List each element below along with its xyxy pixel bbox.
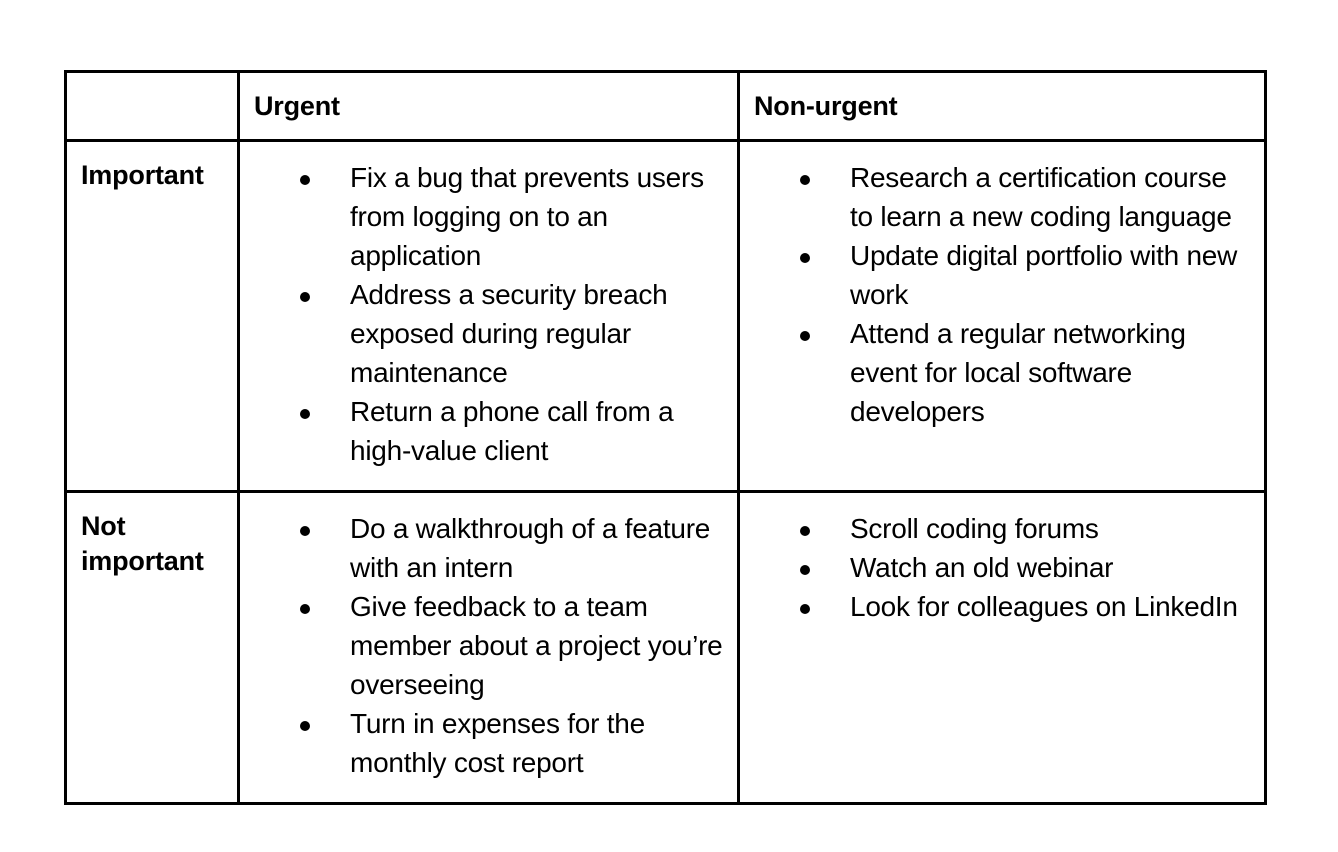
corner-cell bbox=[66, 72, 239, 141]
bullet-dot-icon bbox=[800, 331, 810, 341]
list-item-text: Give feedback to a team member about a p… bbox=[350, 587, 727, 704]
bullet-dot-icon bbox=[300, 292, 310, 302]
list-item: Watch an old webinar bbox=[740, 548, 1254, 587]
list-item-text: Do a walkthrough of a feature with an in… bbox=[350, 509, 727, 587]
task-list-important-urgent: Fix a bug that prevents users from loggi… bbox=[240, 142, 737, 490]
table-row: Not important Do a walkthrough of a feat… bbox=[66, 492, 1266, 804]
list-item: Return a phone call from a high-value cl… bbox=[240, 392, 727, 470]
list-item-text: Turn in expenses for the monthly cost re… bbox=[350, 704, 727, 782]
list-item-text: Update digital portfolio with new work bbox=[850, 236, 1254, 314]
list-item-text: Fix a bug that prevents users from loggi… bbox=[350, 158, 727, 275]
column-header-non-urgent-label: Non-urgent bbox=[740, 73, 1264, 122]
bullet-dot-icon bbox=[800, 175, 810, 185]
table-row: Important Fix a bug that prevents users … bbox=[66, 141, 1266, 492]
list-item: Research a certification course to learn… bbox=[740, 158, 1254, 236]
column-header-urgent-label: Urgent bbox=[240, 73, 737, 122]
corner-label bbox=[67, 73, 237, 90]
page-canvas: Urgent Non-urgent Important Fix a bug th bbox=[0, 0, 1338, 852]
list-item-text: Look for colleagues on LinkedIn bbox=[850, 587, 1254, 626]
row-header-not-important-label: Not important bbox=[67, 493, 237, 578]
cell-not-important-urgent: Do a walkthrough of a feature with an in… bbox=[239, 492, 739, 804]
task-list-not-important-non-urgent: Scroll coding forums Watch an old webina… bbox=[740, 493, 1264, 646]
list-item: Attend a regular networking event for lo… bbox=[740, 314, 1254, 431]
list-item: Turn in expenses for the monthly cost re… bbox=[240, 704, 727, 782]
row-header-important: Important bbox=[66, 141, 239, 492]
bullet-dot-icon bbox=[800, 604, 810, 614]
bullet-dot-icon bbox=[800, 526, 810, 536]
list-item: Do a walkthrough of a feature with an in… bbox=[240, 509, 727, 587]
list-item-text: Attend a regular networking event for lo… bbox=[850, 314, 1254, 431]
bullet-dot-icon bbox=[300, 721, 310, 731]
list-item: Update digital portfolio with new work bbox=[740, 236, 1254, 314]
row-header-important-label: Important bbox=[67, 142, 237, 193]
bullet-dot-icon bbox=[800, 565, 810, 575]
bullet-dot-icon bbox=[800, 253, 810, 263]
column-header-non-urgent: Non-urgent bbox=[739, 72, 1266, 141]
list-item: Scroll coding forums bbox=[740, 509, 1254, 548]
cell-important-non-urgent: Research a certification course to learn… bbox=[739, 141, 1266, 492]
row-header-not-important: Not important bbox=[66, 492, 239, 804]
list-item: Address a security breach exposed during… bbox=[240, 275, 727, 392]
eisenhower-matrix-table: Urgent Non-urgent Important Fix a bug th bbox=[64, 70, 1267, 805]
list-item-text: Watch an old webinar bbox=[850, 548, 1254, 587]
table-header-row: Urgent Non-urgent bbox=[66, 72, 1266, 141]
list-item-text: Address a security breach exposed during… bbox=[350, 275, 727, 392]
task-list-not-important-urgent: Do a walkthrough of a feature with an in… bbox=[240, 493, 737, 802]
cell-not-important-non-urgent: Scroll coding forums Watch an old webina… bbox=[739, 492, 1266, 804]
list-item-text: Research a certification course to learn… bbox=[850, 158, 1254, 236]
list-item: Look for colleagues on LinkedIn bbox=[740, 587, 1254, 626]
bullet-dot-icon bbox=[300, 526, 310, 536]
list-item: Fix a bug that prevents users from loggi… bbox=[240, 158, 727, 275]
bullet-dot-icon bbox=[300, 175, 310, 185]
column-header-urgent: Urgent bbox=[239, 72, 739, 141]
cell-important-urgent: Fix a bug that prevents users from loggi… bbox=[239, 141, 739, 492]
list-item-text: Scroll coding forums bbox=[850, 509, 1254, 548]
bullet-dot-icon bbox=[300, 409, 310, 419]
bullet-dot-icon bbox=[300, 604, 310, 614]
list-item: Give feedback to a team member about a p… bbox=[240, 587, 727, 704]
task-list-important-non-urgent: Research a certification course to learn… bbox=[740, 142, 1264, 451]
list-item-text: Return a phone call from a high-value cl… bbox=[350, 392, 727, 470]
